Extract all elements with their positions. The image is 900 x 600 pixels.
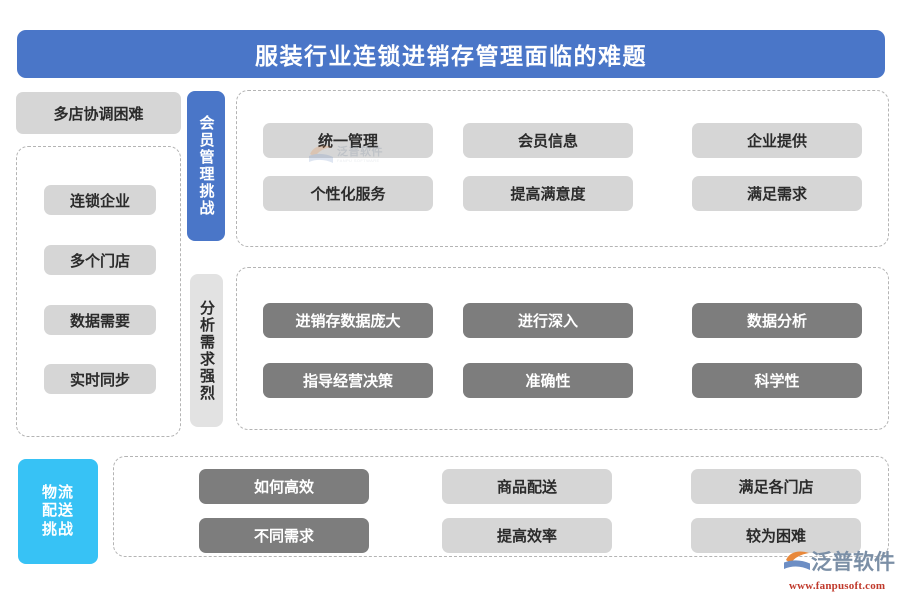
list-item: 多个门店 (44, 245, 156, 275)
topic-pill: 提高效率 (442, 518, 612, 553)
section-label-member-management: 会员管理挑战 (187, 91, 225, 241)
section-label-logistics: 物流 配送 挑战 (18, 459, 98, 564)
page-title: 服装行业连锁进销存管理面临的难题 (255, 37, 647, 71)
topic-pill: 统一管理 (263, 123, 433, 158)
section-panel-logistics: 如何高效 商品配送 满足各门店 不同需求 提高效率 较为困难 (113, 456, 889, 557)
brand-logo: 泛普软件 www.fanpusoft.com (784, 548, 896, 592)
topic-pill: 数据分析 (692, 303, 862, 338)
topic-pill: 如何高效 (199, 469, 369, 504)
topic-pill: 提高满意度 (463, 176, 633, 211)
infographic-canvas: 服装行业连锁进销存管理面临的难题 多店协调困难 连锁企业 多个门店 数据需要 实… (0, 0, 900, 600)
section-label-line: 物流 (42, 484, 74, 502)
section-label-line: 挑战 (42, 521, 74, 539)
section-label-analysis-demand: 分析需求强烈 (190, 274, 223, 427)
topic-pill: 准确性 (463, 363, 633, 398)
left-items-panel: 连锁企业 多个门店 数据需要 实时同步 (16, 146, 181, 437)
list-item: 实时同步 (44, 364, 156, 394)
section-label-line: 配送 (42, 502, 74, 520)
topic-pill: 进行深入 (463, 303, 633, 338)
topic-pill: 企业提供 (692, 123, 862, 158)
topic-pill: 会员信息 (463, 123, 633, 158)
topic-pill: 不同需求 (199, 518, 369, 553)
logo-swoosh-icon (784, 550, 810, 574)
section-panel-member-management: 统一管理 会员信息 企业提供 个性化服务 提高满意度 满足需求 (236, 90, 889, 247)
topic-pill: 指导经营决策 (263, 363, 433, 398)
page-title-bar: 服装行业连锁进销存管理面临的难题 (17, 30, 885, 78)
logo-name: 泛普软件 (811, 552, 895, 573)
list-item: 连锁企业 (44, 185, 156, 215)
list-item: 数据需要 (44, 305, 156, 335)
topic-pill: 进销存数据庞大 (263, 303, 433, 338)
section-panel-analysis-demand: 进销存数据庞大 进行深入 数据分析 指导经营决策 准确性 科学性 (236, 267, 889, 430)
topic-pill: 商品配送 (442, 469, 612, 504)
topic-pill: 个性化服务 (263, 176, 433, 211)
topic-pill: 满足需求 (692, 176, 862, 211)
left-top-pill: 多店协调困难 (16, 92, 181, 134)
topic-pill: 满足各门店 (691, 469, 861, 504)
topic-pill: 科学性 (692, 363, 862, 398)
logo-url: www.fanpusoft.com (789, 580, 885, 592)
